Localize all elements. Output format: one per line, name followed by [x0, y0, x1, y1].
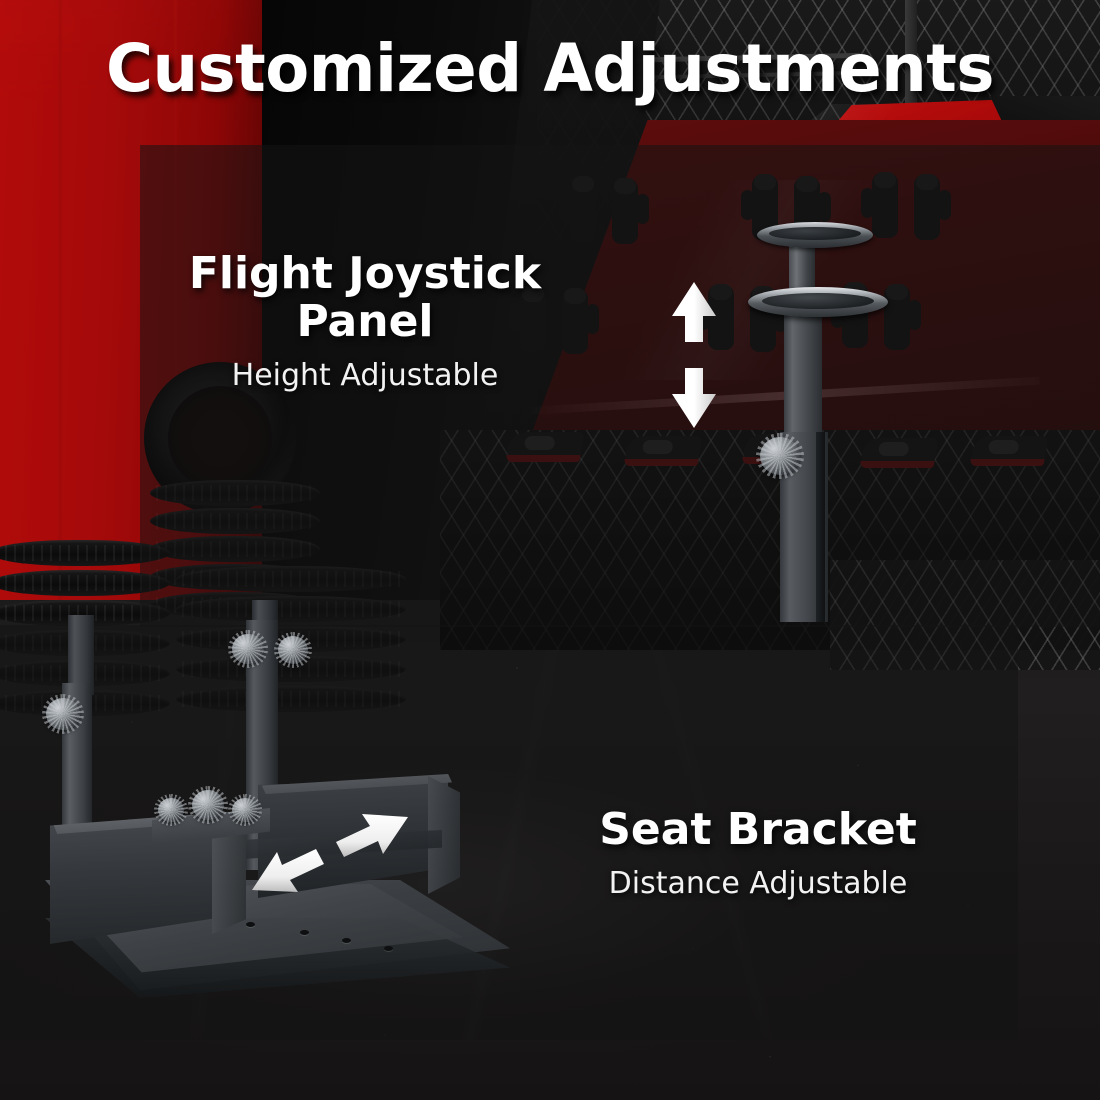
clamp-knob-left [158, 798, 184, 822]
clamp-knob-center [192, 790, 224, 820]
horizontal-double-arrow-icon [250, 812, 410, 894]
callout-subtitle-joystick: Height Adjustable [150, 358, 580, 393]
pole-adjustment-knob [760, 437, 800, 475]
callout-title-seat-bracket: Seat Bracket [583, 806, 933, 854]
joystick-pole-edge-shadow [816, 432, 825, 622]
upright-knob-left [46, 698, 80, 730]
joystick-pole-mid-tube [784, 310, 822, 450]
upright-knob-right-a [232, 634, 264, 664]
vertical-double-arrow-icon [664, 280, 724, 430]
callout-title-joystick: Flight Joystick Panel [150, 250, 580, 345]
joystick-mount-plate-lower [748, 287, 888, 317]
base-plate-hole [246, 922, 255, 927]
upright-knob-right-b [278, 636, 308, 664]
base-plate-hole [384, 946, 393, 951]
product-feature-image: Customized Adjustments Flight Joystick P… [0, 0, 1100, 1100]
base-plate-hole [342, 938, 351, 943]
joystick-mount-plate-upper [757, 222, 873, 248]
callout-subtitle-seat-bracket: Distance Adjustable [583, 866, 933, 901]
page-title: Customized Adjustments [17, 30, 1084, 107]
base-plate-hole [300, 930, 309, 935]
